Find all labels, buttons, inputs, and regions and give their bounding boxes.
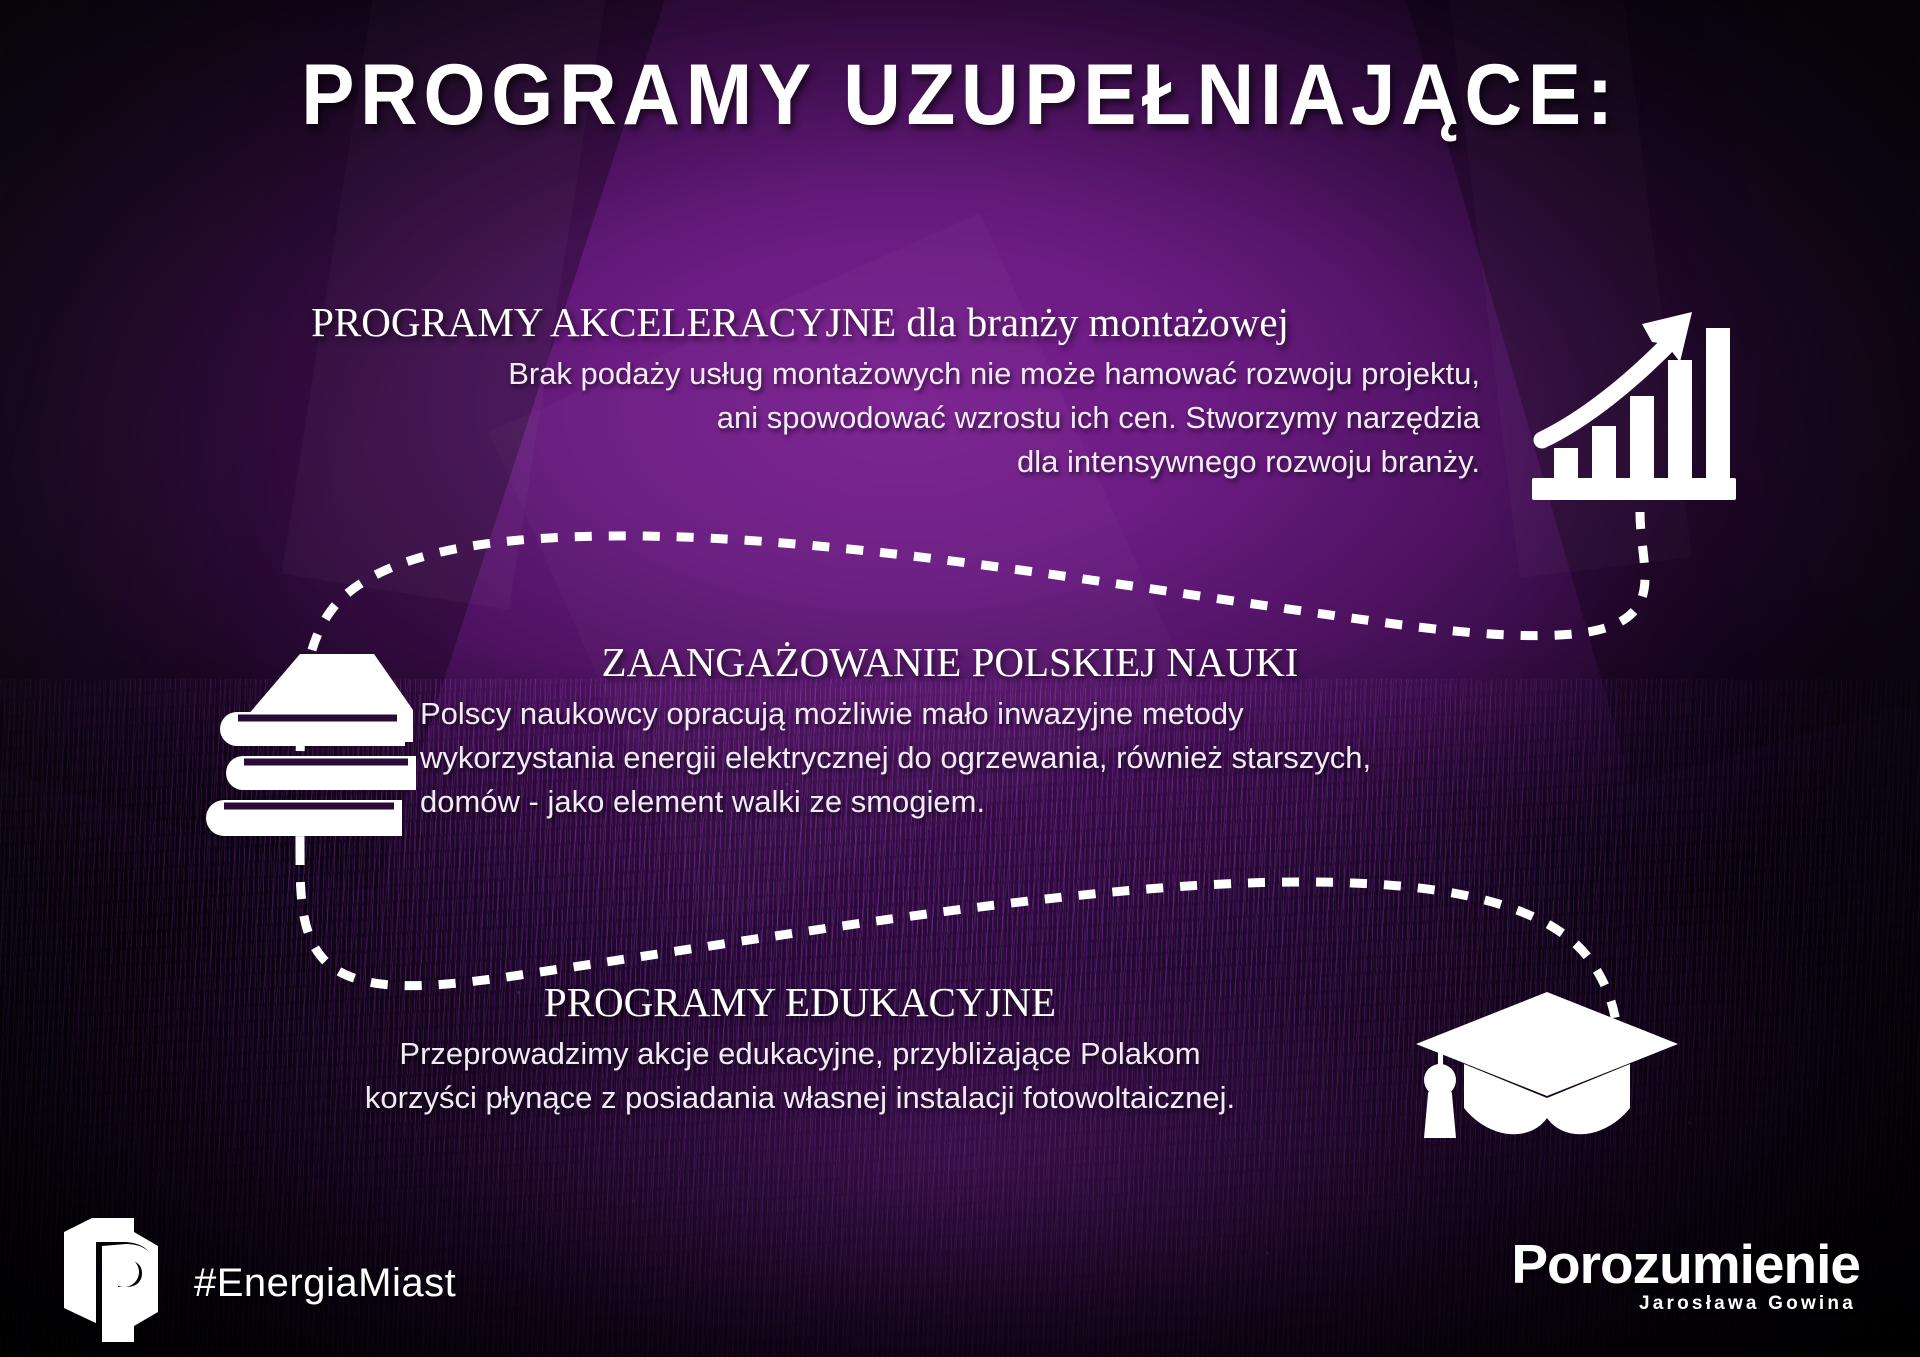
section-body: Brak podaży usług montażowych nie może h… xyxy=(120,352,1480,484)
section-body-line: dla intensywnego rozwoju branży. xyxy=(120,440,1480,484)
section-body-line: korzyści płynące z posiadania własnej in… xyxy=(180,1076,1420,1120)
infographic-slide: PROGRAMY UZUPEŁNIAJĄCE: PROGRAMY AKCELER… xyxy=(0,0,1920,1357)
brand-subtitle: Jarosława Gowina xyxy=(1511,1293,1856,1315)
books-stack-icon xyxy=(192,638,422,850)
section-edukacyjne: PROGRAMY EDUKACYJNE Przeprowadzimy akcje… xyxy=(180,980,1420,1120)
footer-right: Porozumienie Jarosława Gowina xyxy=(1511,1238,1860,1315)
section-body-line: Polscy naukowcy opracują możliwie mało i… xyxy=(420,692,1480,736)
section-body: Polscy naukowcy opracują możliwie mało i… xyxy=(420,692,1480,824)
section-body-line: ani spowodować wzrostu ich cen. Stworzym… xyxy=(120,396,1480,440)
section-heading: ZAANGAŻOWANIE POLSKIEJ NAUKI xyxy=(420,640,1480,686)
section-body: Przeprowadzimy akcje edukacyjne, przybli… xyxy=(180,1032,1420,1120)
brand-name: Porozumienie xyxy=(1511,1238,1860,1291)
section-heading: PROGRAMY EDUKACYJNE xyxy=(180,980,1420,1026)
section-heading: PROGRAMY AKCELERACYJNE dla branży montaż… xyxy=(120,300,1480,346)
graduation-cap-icon xyxy=(1412,990,1682,1145)
section-nauka: ZAANGAŻOWANIE POLSKIEJ NAUKI Polscy nauk… xyxy=(420,640,1480,824)
section-body-line: Przeprowadzimy akcje edukacyjne, przybli… xyxy=(180,1032,1420,1076)
hashtag-label: #EnergiaMiast xyxy=(194,1261,456,1306)
energia-miast-p-logo xyxy=(62,1216,166,1351)
section-body-line: Brak podaży usług montażowych nie może h… xyxy=(120,352,1480,396)
page-title: PROGRAMY UZUPEŁNIAJĄCE: xyxy=(67,52,1853,140)
footer-left: #EnergiaMiast xyxy=(62,1216,456,1351)
growth-chart-icon xyxy=(1524,300,1744,510)
section-akceleracyjne: PROGRAMY AKCELERACYJNE dla branży montaż… xyxy=(120,300,1480,484)
section-body-line: wykorzystania energii elektrycznej do og… xyxy=(420,736,1480,780)
section-body-line: domów - jako element walki ze smogiem. xyxy=(420,780,1480,824)
